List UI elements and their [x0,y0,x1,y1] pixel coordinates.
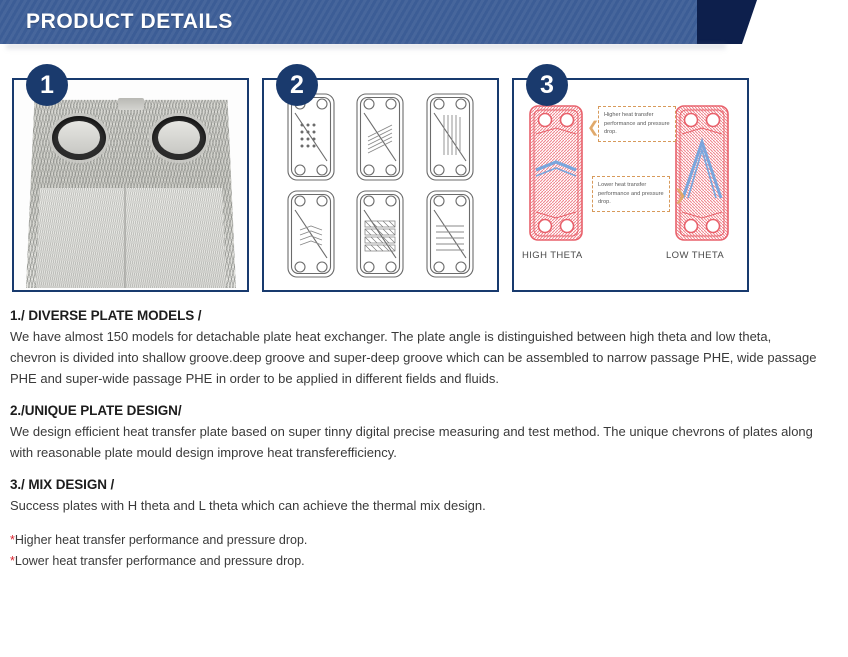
plate-drawing-wave-chevrons [285,188,337,280]
banner-drop-shadow [6,44,726,51]
callout-lower-performance: Lower heat transfer performance and pres… [592,176,670,212]
panel-1-box [12,78,249,292]
panel-2-badge: 2 [276,64,318,106]
plate-port-right-inner [158,121,200,154]
panel-2-box [262,78,499,292]
plate-port-left-inner [58,121,100,154]
arrow-left-icon: ❮ [587,120,600,135]
panel-1: 1 [12,64,249,292]
panel-1-badge: 1 [26,64,68,106]
section-1-body: We have almost 150 models for detachable… [10,326,820,389]
plate-photograph [14,80,247,290]
page-header: PRODUCT DETAILS [0,0,848,50]
section-2: 2./UNIQUE PLATE DESIGN/ We design effici… [10,403,838,463]
section-3: 3./ MIX DESIGN / Success plates with H t… [10,477,838,516]
high-theta-label: HIGH THETA [522,250,583,261]
section-2-body: We design efficient heat transfer plate … [10,421,820,463]
note-1: *Higher heat transfer performance and pr… [10,530,838,551]
plate-top-notch [118,98,144,110]
low-theta-plate-drawing [674,104,730,242]
page-title: PRODUCT DETAILS [0,10,233,34]
section-2-heading: 2./UNIQUE PLATE DESIGN/ [10,403,838,418]
banner-notch-triangle [697,0,757,44]
theta-diagram: Higher heat transfer performance and pre… [514,80,747,290]
plate-drawing-dense-bands [354,188,406,280]
section-3-heading: 3./ MIX DESIGN / [10,477,838,492]
plate-drawing-diagonal-lines [354,91,406,183]
high-theta-plate-drawing [528,104,584,242]
note-2: *Lower heat transfer performance and pre… [10,551,838,572]
plate-model-grid [264,80,497,290]
panel-row: 1 [0,64,848,292]
section-3-body: Success plates with H theta and L theta … [10,495,820,516]
plate-lower-section [36,188,226,288]
panel-2: 2 [262,64,499,292]
description-content: 1./ DIVERSE PLATE MODELS / We have almos… [0,292,848,572]
panel-3-box: Higher heat transfer performance and pre… [512,78,749,292]
plate-drawing-horizontal-lines [424,188,476,280]
header-banner: PRODUCT DETAILS [0,0,740,44]
arrow-right-icon: ❯ [674,188,687,203]
low-theta-label: LOW THETA [666,250,724,261]
plate-center-seam [124,188,126,288]
section-1-heading: 1./ DIVERSE PLATE MODELS / [10,308,838,323]
callout-higher-performance: Higher heat transfer performance and pre… [598,106,676,142]
note-2-text: Lower heat transfer performance and pres… [15,554,305,568]
plate-port-left [52,116,106,160]
note-1-text: Higher heat transfer performance and pre… [15,533,308,547]
plate-port-right [152,116,206,160]
plate-photo-image [26,92,236,288]
section-1: 1./ DIVERSE PLATE MODELS / We have almos… [10,308,838,389]
panel-3-badge: 3 [526,64,568,106]
plate-drawing-vertical-lines [424,91,476,183]
panel-3: Higher heat transfer performance and pre… [512,64,749,292]
